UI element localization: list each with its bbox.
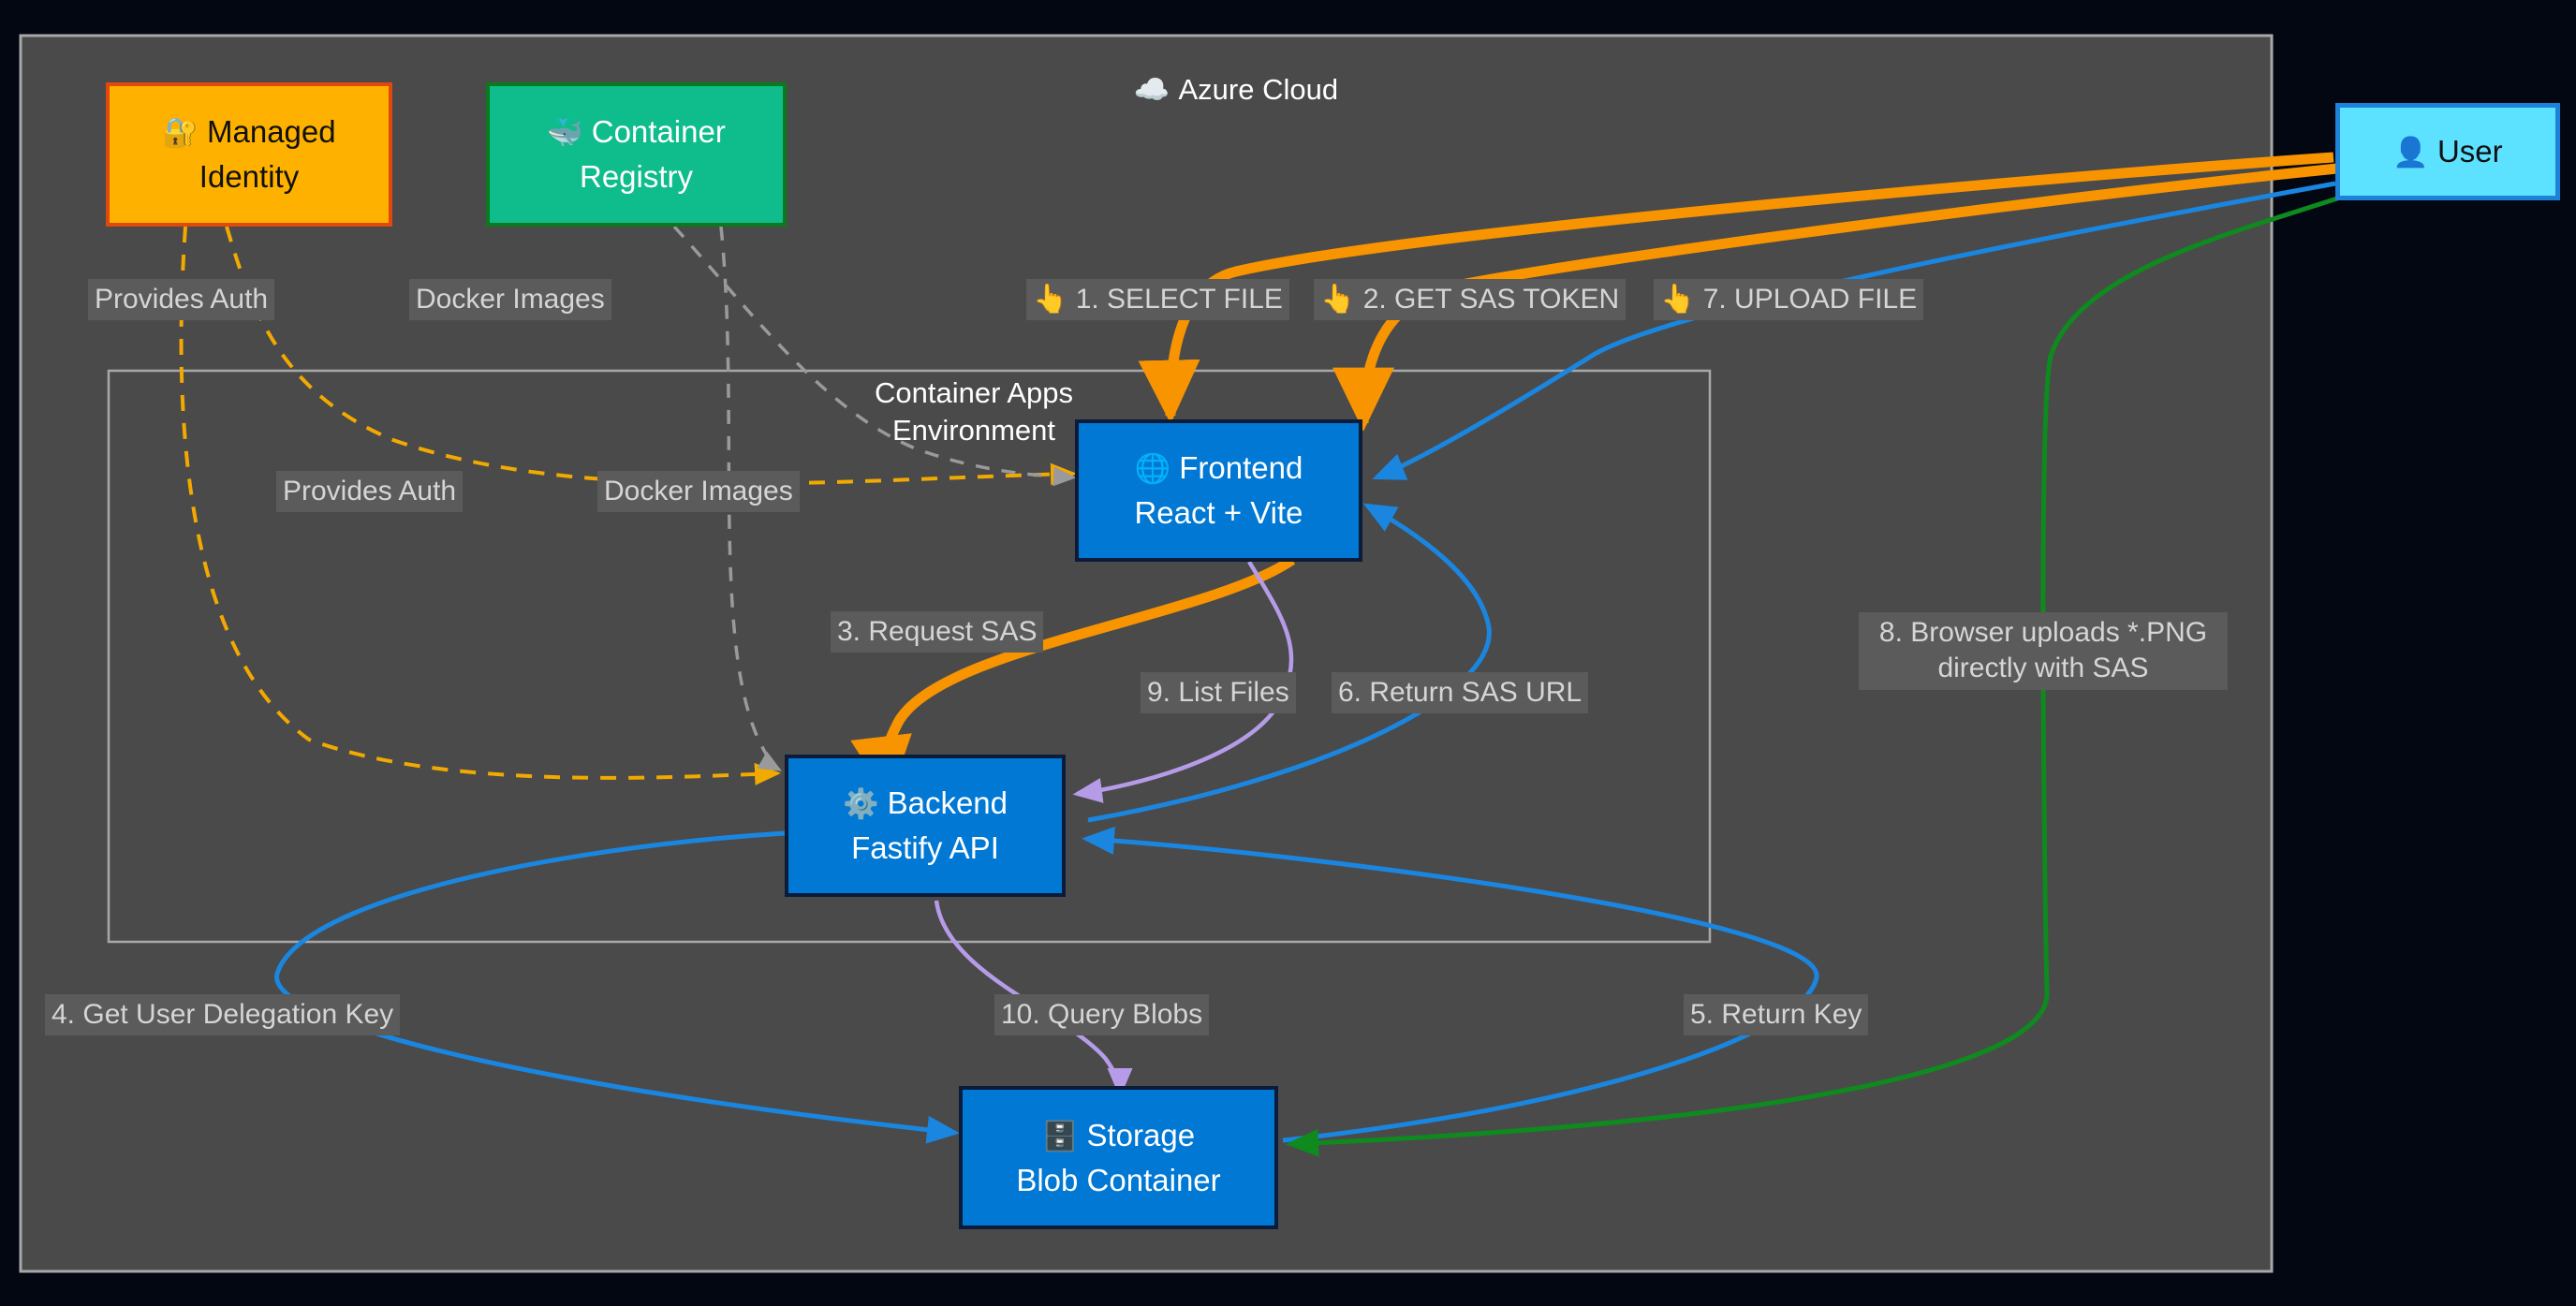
person-icon: 👤 bbox=[2392, 136, 2429, 169]
edge-label-step-1: 👆 1. SELECT FILE bbox=[1026, 279, 1289, 320]
node-managed-identity[interactable]: 🔐Managed Identity bbox=[106, 82, 392, 227]
managed-identity-line1: 🔐Managed bbox=[162, 114, 335, 150]
edge-label-provides-auth-2: Provides Auth bbox=[276, 471, 463, 512]
node-backend[interactable]: ⚙️Backend Fastify API bbox=[785, 755, 1066, 897]
node-frontend[interactable]: 🌐Frontend React + Vite bbox=[1075, 419, 1362, 562]
edge-label-step-4: 4. Get User Delegation Key bbox=[45, 994, 400, 1035]
storage-line1: 🗄️Storage bbox=[1042, 1118, 1195, 1153]
node-container-registry[interactable]: 🐳Container Registry bbox=[486, 82, 787, 227]
node-storage[interactable]: 🗄️Storage Blob Container bbox=[959, 1086, 1278, 1229]
edge-label-step-8: 8. Browser uploads *.PNG directly with S… bbox=[1859, 612, 2228, 690]
storage-line2: Blob Container bbox=[1016, 1163, 1220, 1198]
container-apps-environment-title: Container Apps Environment bbox=[833, 374, 1114, 450]
edge-label-step-5: 5. Return Key bbox=[1684, 994, 1868, 1035]
diagram-canvas: ☁️Azure Cloud Container Apps Environment… bbox=[0, 0, 2576, 1306]
edge-label-step-6: 6. Return SAS URL bbox=[1332, 672, 1588, 713]
cloud-icon: ☁️ bbox=[1134, 73, 1170, 106]
edge-label-step-3: 3. Request SAS bbox=[831, 611, 1043, 653]
docker-whale-icon: 🐳 bbox=[547, 116, 583, 149]
globe-icon: 🌐 bbox=[1135, 452, 1171, 485]
managed-identity-line2: Identity bbox=[199, 159, 299, 195]
frontend-line2: React + Vite bbox=[1134, 495, 1303, 531]
azure-cloud-title-text: Azure Cloud bbox=[1179, 73, 1339, 106]
container-registry-line2: Registry bbox=[580, 159, 693, 195]
user-line1: 👤User bbox=[2392, 134, 2502, 169]
backend-line1: ⚙️Backend bbox=[843, 785, 1008, 821]
azure-cloud-title: ☁️Azure Cloud bbox=[1039, 34, 1433, 110]
edge-label-docker-images-1: Docker Images bbox=[409, 279, 611, 320]
edge-label-step-10: 10. Query Blobs bbox=[994, 994, 1209, 1035]
edge-label-step-2: 👆 2. GET SAS TOKEN bbox=[1314, 279, 1626, 320]
node-user[interactable]: 👤User bbox=[2335, 103, 2560, 200]
edge-label-step-9: 9. List Files bbox=[1141, 672, 1296, 713]
edge-label-docker-images-2: Docker Images bbox=[597, 471, 800, 512]
gear-icon: ⚙️ bbox=[843, 787, 879, 820]
file-cabinet-icon: 🗄️ bbox=[1042, 1120, 1079, 1152]
lock-icon: 🔐 bbox=[162, 116, 199, 149]
edge-label-provides-auth-1: Provides Auth bbox=[88, 279, 274, 320]
container-registry-line1: 🐳Container bbox=[547, 114, 726, 150]
frontend-line1: 🌐Frontend bbox=[1135, 450, 1303, 486]
edge-label-step-7: 👆 7. UPLOAD FILE bbox=[1654, 279, 1923, 320]
backend-line2: Fastify API bbox=[851, 830, 999, 866]
